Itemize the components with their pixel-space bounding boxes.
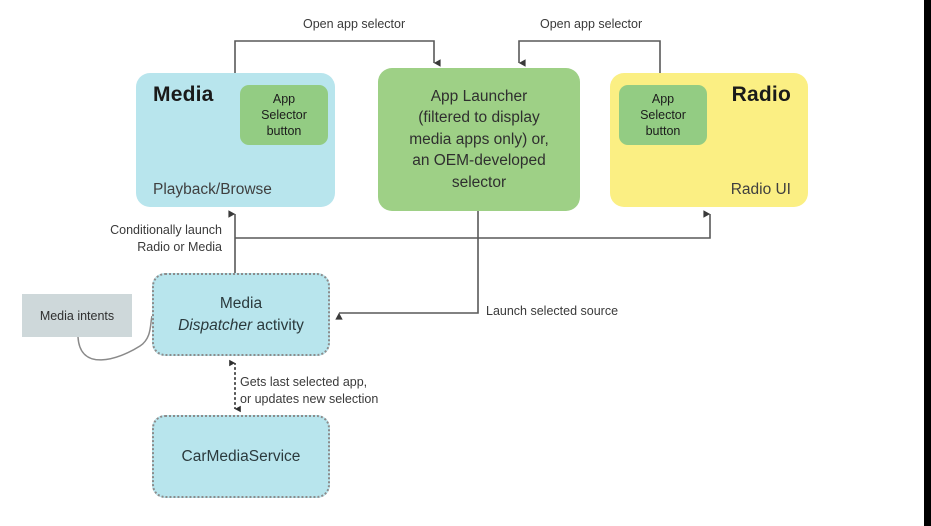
diagram-canvas: Media App Selector button Playback/Brows… (0, 0, 931, 526)
edge-dispatcher-to-radio (235, 214, 710, 238)
radio-app-title: Radio (732, 83, 791, 107)
radio-app-box: Radio App Selector button Radio UI (610, 73, 808, 207)
edge-label-gets-last-selected-app: Gets last selected app, or updates new s… (240, 374, 378, 407)
edge-label-open-app-selector-media: Open app selector (303, 16, 405, 33)
edge-label-open-app-selector-radio: Open app selector (540, 16, 642, 33)
media-dispatcher-line2-italic: Dispatcher (178, 317, 252, 334)
radio-app-footer-label: Radio UI (731, 181, 791, 199)
edge-label-conditionally-launch: Conditionally launch Radio or Media (98, 222, 222, 255)
media-dispatcher-line1: Media (220, 295, 262, 312)
media-app-box: Media App Selector button Playback/Brows… (136, 73, 335, 207)
media-app-selector-button[interactable]: App Selector button (240, 85, 328, 145)
edge-label-launch-selected-source: Launch selected source (486, 303, 618, 320)
media-app-footer-label: Playback/Browse (153, 181, 272, 199)
radio-app-selector-button[interactable]: App Selector button (619, 85, 707, 145)
edge-launcher-to-dispatcher (339, 211, 478, 313)
app-launcher-box: App Launcher (filtered to display media … (378, 68, 580, 211)
media-app-title: Media (153, 83, 214, 107)
car-media-service-box: CarMediaService (152, 415, 330, 498)
app-launcher-description: App Launcher (filtered to display media … (401, 86, 557, 193)
media-dispatcher-activity-box: Media Dispatcher activity (152, 273, 330, 356)
media-dispatcher-line2-rest: activity (252, 317, 304, 334)
media-intents-label: Media intents (40, 309, 114, 323)
right-edge-band (924, 0, 931, 526)
car-media-service-label: CarMediaService (182, 448, 301, 466)
media-intents-box: Media intents (22, 294, 132, 337)
media-dispatcher-label: Media Dispatcher activity (178, 293, 304, 335)
